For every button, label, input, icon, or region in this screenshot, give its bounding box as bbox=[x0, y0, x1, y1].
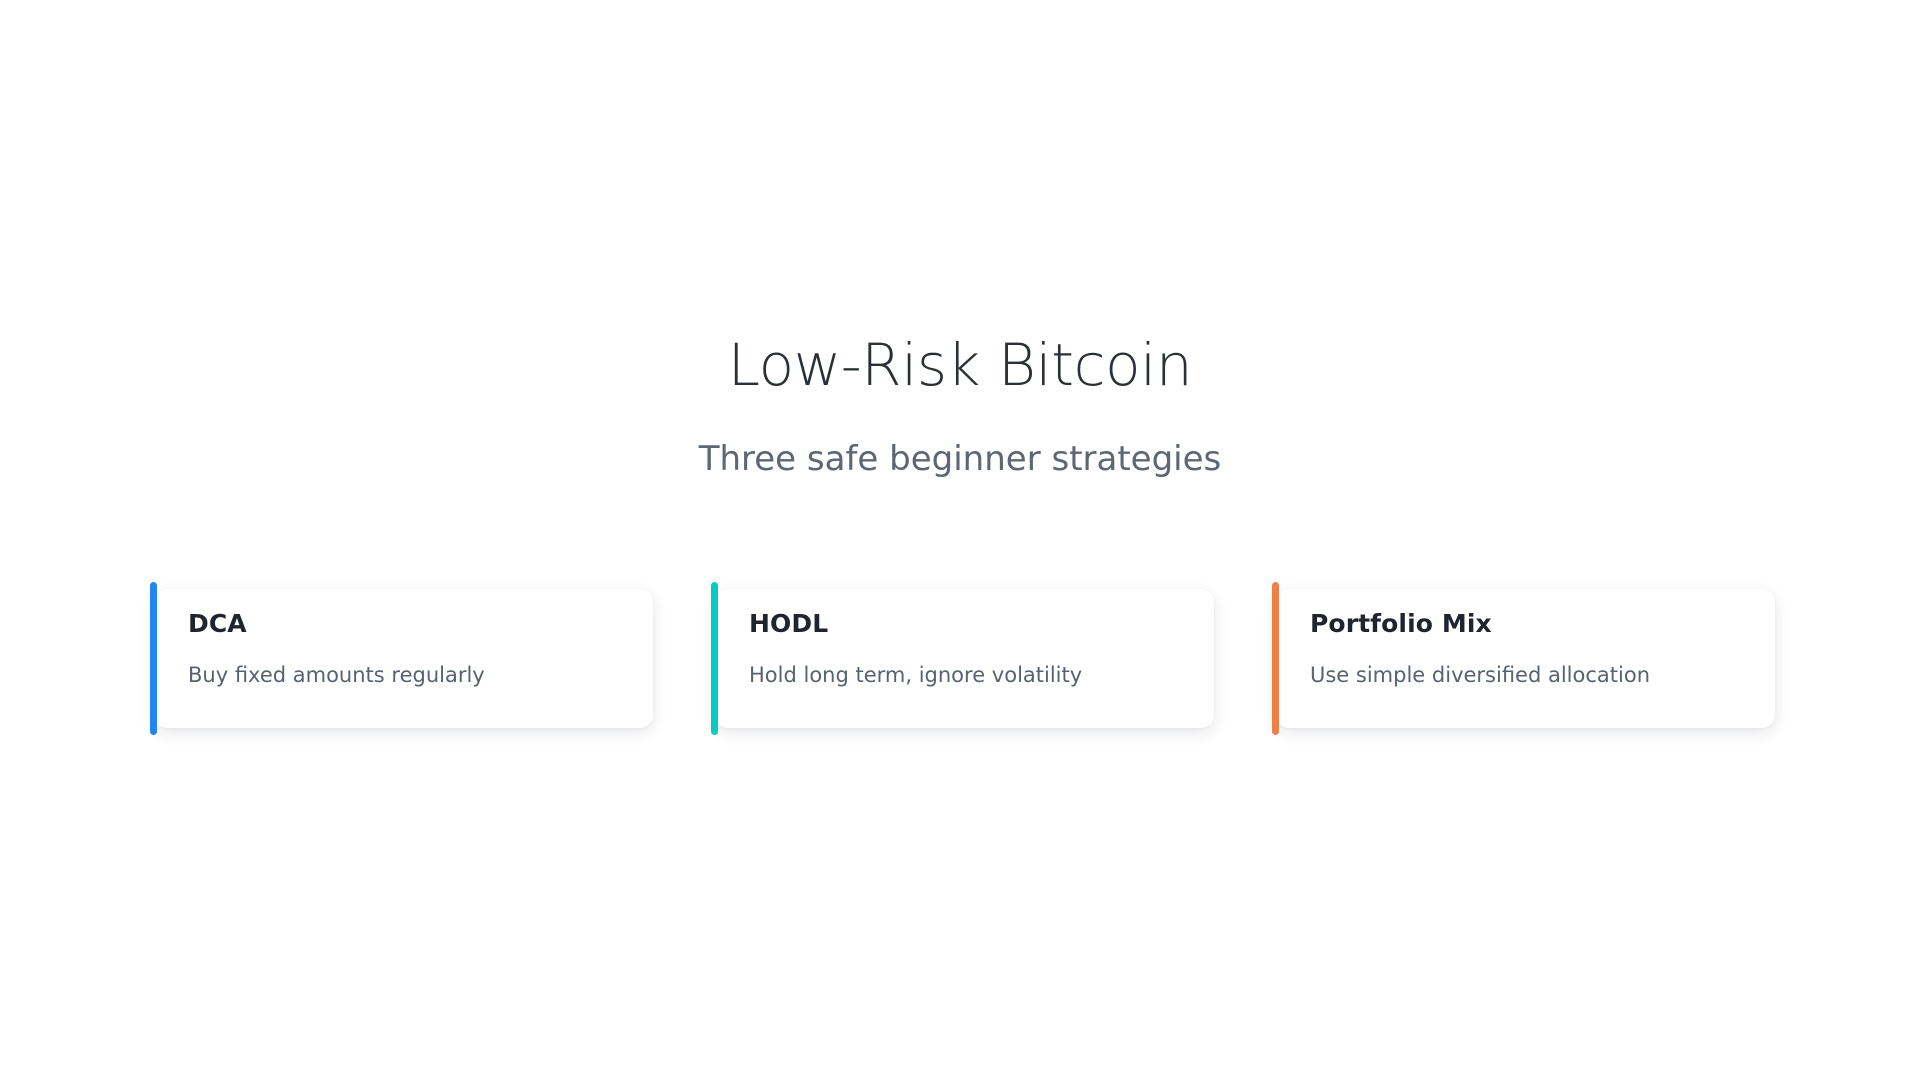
page-title: Low-Risk Bitcoin bbox=[0, 336, 1920, 394]
accent-bar-icon bbox=[150, 582, 157, 735]
strategy-card-hodl[interactable]: HODL Hold long term, ignore volatility bbox=[711, 582, 1214, 735]
card-description: Buy fixed amounts regularly bbox=[188, 636, 625, 688]
strategy-card-dca[interactable]: DCA Buy fixed amounts regularly bbox=[150, 582, 653, 735]
accent-bar-icon bbox=[711, 582, 718, 735]
strategy-card-portfolio-mix[interactable]: Portfolio Mix Use simple diversified all… bbox=[1272, 582, 1775, 735]
card-title: Portfolio Mix bbox=[1310, 611, 1747, 636]
card-body: Portfolio Mix Use simple diversified all… bbox=[1276, 589, 1775, 728]
card-body: DCA Buy fixed amounts regularly bbox=[154, 589, 653, 728]
card-title: HODL bbox=[749, 611, 1186, 636]
card-title: DCA bbox=[188, 611, 625, 636]
page-subtitle: Three safe beginner strategies bbox=[0, 394, 1920, 476]
accent-bar-icon bbox=[1272, 582, 1279, 735]
hero-section: Low-Risk Bitcoin Three safe beginner str… bbox=[0, 336, 1920, 476]
card-body: HODL Hold long term, ignore volatility bbox=[715, 589, 1214, 728]
card-description: Use simple diversified allocation bbox=[1310, 636, 1747, 688]
card-description: Hold long term, ignore volatility bbox=[749, 636, 1186, 688]
page-root: Low-Risk Bitcoin Three safe beginner str… bbox=[0, 0, 1920, 1080]
strategy-card-list: DCA Buy fixed amounts regularly HODL Hol… bbox=[150, 582, 1775, 735]
